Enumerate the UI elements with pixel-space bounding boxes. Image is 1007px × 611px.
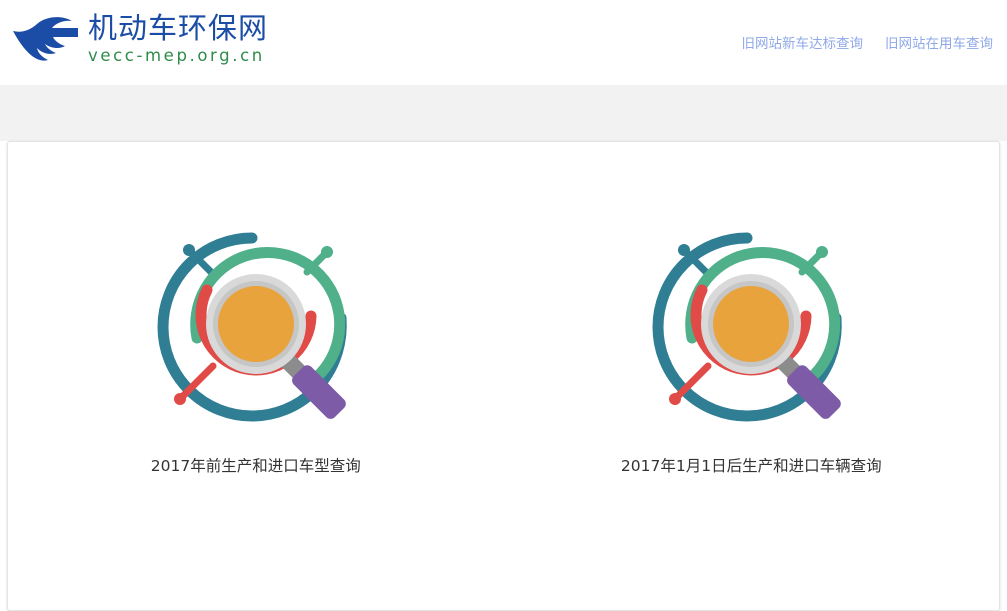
nav-link-old-site-in-use-vehicle-query[interactable]: 旧网站在用车查询 — [885, 32, 993, 52]
tile-caption: 2017年前生产和进口车型查询 — [151, 454, 361, 476]
header-nav: 旧网站新车达标查询 旧网站在用车查询 — [742, 32, 994, 52]
logo-domain: vecc-mep.org.cn — [88, 46, 268, 66]
logo-title: 机动车环保网 — [88, 12, 268, 45]
query-entry-tiles: 2017年前生产和进口车型查询 — [8, 142, 999, 476]
header-separator-band — [0, 85, 1007, 141]
main-content-card: 2017年前生产和进口车型查询 — [7, 141, 1000, 611]
nav-link-old-site-new-vehicle-compliance-query[interactable]: 旧网站新车达标查询 — [742, 32, 864, 52]
site-header: 机动车环保网 vecc-mep.org.cn 旧网站新车达标查询 旧网站在用车查… — [0, 0, 1007, 85]
tile-post-2017-vehicle-query[interactable]: 2017年1月1日后生产和进口车辆查询 — [504, 222, 1000, 476]
swoosh-bird-logo-icon — [12, 15, 84, 63]
tile-caption: 2017年1月1日后生产和进口车辆查询 — [621, 454, 882, 476]
site-logo[interactable]: 机动车环保网 vecc-mep.org.cn — [12, 12, 268, 66]
magnifying-glass-circles-icon — [151, 222, 361, 432]
magnifying-glass-circles-icon — [646, 222, 856, 432]
tile-pre-2017-vehicle-model-query[interactable]: 2017年前生产和进口车型查询 — [8, 222, 504, 476]
